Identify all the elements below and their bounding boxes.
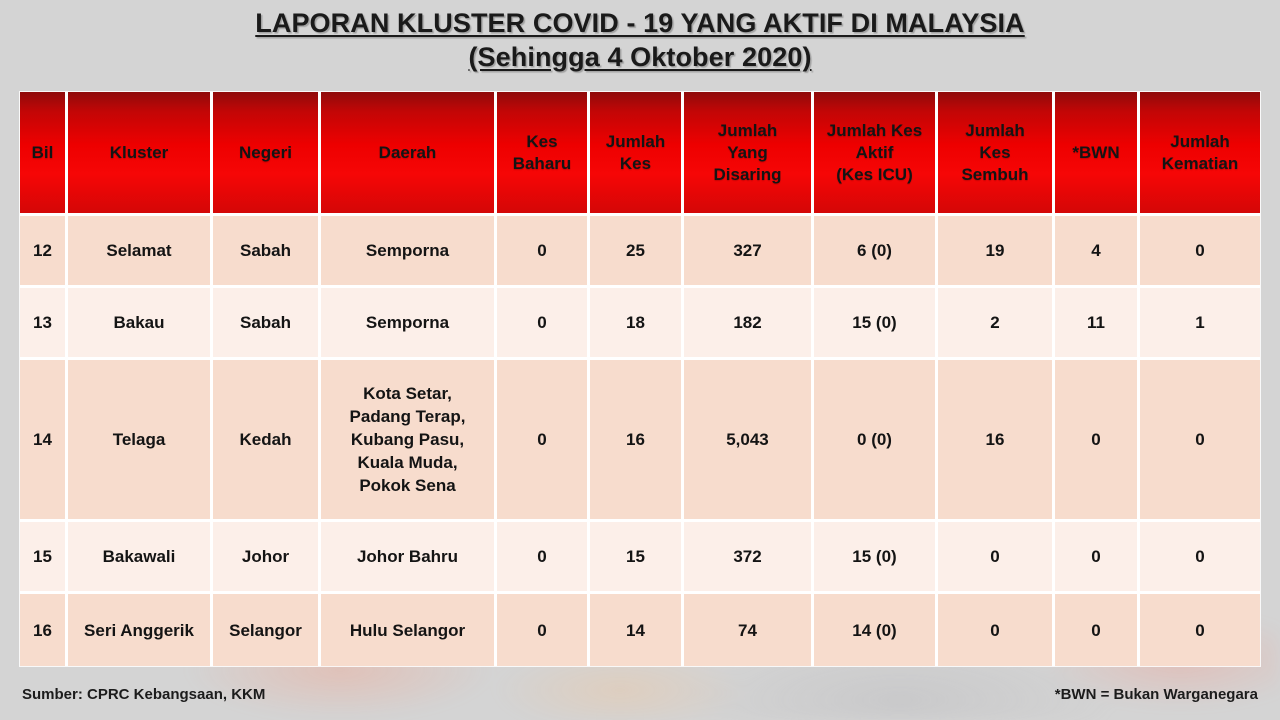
cell-kes-baharu: 0 — [497, 216, 590, 288]
column-header-negeri: Negeri — [213, 92, 321, 216]
cell-kes-aktif: 15 (0) — [814, 288, 938, 360]
cell-jumlah-disaring: 182 — [684, 288, 814, 360]
cell-jumlah-disaring: 372 — [684, 522, 814, 594]
table-row: 14 Telaga Kedah Kota Setar, Padang Terap… — [20, 360, 1260, 522]
cell-kes-sembuh: 16 — [938, 360, 1055, 522]
cell-kes-sembuh: 0 — [938, 594, 1055, 666]
footer-bwn-legend: *BWN = Bukan Warganegara — [1055, 686, 1258, 703]
page-title: LAPORAN KLUSTER COVID - 19 YANG AKTIF DI… — [0, 6, 1280, 74]
cell-negeri: Johor — [213, 522, 321, 594]
column-header-kluster: Kluster — [68, 92, 213, 216]
cell-negeri: Selangor — [213, 594, 321, 666]
cell-kematian: 0 — [1140, 216, 1260, 288]
cell-kes-baharu: 0 — [497, 594, 590, 666]
cell-bwn: 0 — [1055, 522, 1140, 594]
cell-bwn: 11 — [1055, 288, 1140, 360]
column-header-jumlah-kes: Jumlah Kes — [590, 92, 684, 216]
cell-jumlah-disaring: 5,043 — [684, 360, 814, 522]
cell-jumlah-kes: 14 — [590, 594, 684, 666]
cell-bwn: 0 — [1055, 594, 1140, 666]
cell-daerah: Kota Setar, Padang Terap, Kubang Pasu, K… — [321, 360, 497, 522]
table-row: 12 Selamat Sabah Semporna 0 25 327 6 (0)… — [20, 216, 1260, 288]
column-header-kes-baharu: Kes Baharu — [497, 92, 590, 216]
cell-kluster: Seri Anggerik — [68, 594, 213, 666]
cell-jumlah-kes: 16 — [590, 360, 684, 522]
cell-bil: 14 — [20, 360, 68, 522]
cell-bil: 16 — [20, 594, 68, 666]
table-row: 13 Bakau Sabah Semporna 0 18 182 15 (0) … — [20, 288, 1260, 360]
cell-daerah: Semporna — [321, 288, 497, 360]
cell-kluster: Telaga — [68, 360, 213, 522]
title-line-date: (Sehingga 4 Oktober 2020) — [0, 40, 1280, 74]
cell-kluster: Bakawali — [68, 522, 213, 594]
cell-kes-aktif: 0 (0) — [814, 360, 938, 522]
column-header-jumlah-kes-aktif: Jumlah Kes Aktif (Kes ICU) — [814, 92, 938, 216]
cell-kes-aktif: 14 (0) — [814, 594, 938, 666]
cell-kematian: 0 — [1140, 522, 1260, 594]
table-row: 16 Seri Anggerik Selangor Hulu Selangor … — [20, 594, 1260, 666]
table-body: 12 Selamat Sabah Semporna 0 25 327 6 (0)… — [20, 216, 1260, 666]
cell-kes-aktif: 6 (0) — [814, 216, 938, 288]
cell-kes-sembuh: 0 — [938, 522, 1055, 594]
footer-source-text: Sumber: CPRC Kebangsaan, KKM — [22, 686, 265, 703]
cell-negeri: Sabah — [213, 288, 321, 360]
cell-jumlah-kes: 25 — [590, 216, 684, 288]
column-header-daerah: Daerah — [321, 92, 497, 216]
cell-kes-aktif: 15 (0) — [814, 522, 938, 594]
cell-kes-sembuh: 19 — [938, 216, 1055, 288]
cell-kes-sembuh: 2 — [938, 288, 1055, 360]
cell-kematian: 1 — [1140, 288, 1260, 360]
cell-kematian: 0 — [1140, 360, 1260, 522]
cell-bwn: 0 — [1055, 360, 1140, 522]
cell-bwn: 4 — [1055, 216, 1140, 288]
column-header-jumlah-kes-sembuh: Jumlah Kes Sembuh — [938, 92, 1055, 216]
column-header-jumlah-kematian: Jumlah Kematian — [1140, 92, 1260, 216]
cell-negeri: Sabah — [213, 216, 321, 288]
cell-jumlah-kes: 18 — [590, 288, 684, 360]
column-header-bil: Bil — [20, 92, 68, 216]
cell-daerah: Johor Bahru — [321, 522, 497, 594]
table-header-row: Bil Kluster Negeri Daerah Kes Baharu Jum… — [20, 92, 1260, 216]
cell-jumlah-disaring: 327 — [684, 216, 814, 288]
cell-kes-baharu: 0 — [497, 522, 590, 594]
cell-daerah: Semporna — [321, 216, 497, 288]
table-header: Bil Kluster Negeri Daerah Kes Baharu Jum… — [20, 92, 1260, 216]
cell-kematian: 0 — [1140, 594, 1260, 666]
cell-bil: 12 — [20, 216, 68, 288]
cell-negeri: Kedah — [213, 360, 321, 522]
cell-jumlah-disaring: 74 — [684, 594, 814, 666]
cell-kes-baharu: 0 — [497, 288, 590, 360]
cell-bil: 13 — [20, 288, 68, 360]
cell-kluster: Bakau — [68, 288, 213, 360]
slide-footer: Sumber: CPRC Kebangsaan, KKM *BWN = Buka… — [0, 686, 1280, 716]
column-header-jumlah-yang-disaring: Jumlah Yang Disaring — [684, 92, 814, 216]
table-row: 15 Bakawali Johor Johor Bahru 0 15 372 1… — [20, 522, 1260, 594]
cell-jumlah-kes: 15 — [590, 522, 684, 594]
title-line-primary: LAPORAN KLUSTER COVID - 19 YANG AKTIF DI… — [0, 6, 1280, 40]
slide-canvas: LAPORAN KLUSTER COVID - 19 YANG AKTIF DI… — [0, 0, 1280, 720]
active-cluster-table: Bil Kluster Negeri Daerah Kes Baharu Jum… — [20, 92, 1260, 666]
column-header-bwn: *BWN — [1055, 92, 1140, 216]
cell-kes-baharu: 0 — [497, 360, 590, 522]
cell-daerah: Hulu Selangor — [321, 594, 497, 666]
cell-bil: 15 — [20, 522, 68, 594]
cell-kluster: Selamat — [68, 216, 213, 288]
